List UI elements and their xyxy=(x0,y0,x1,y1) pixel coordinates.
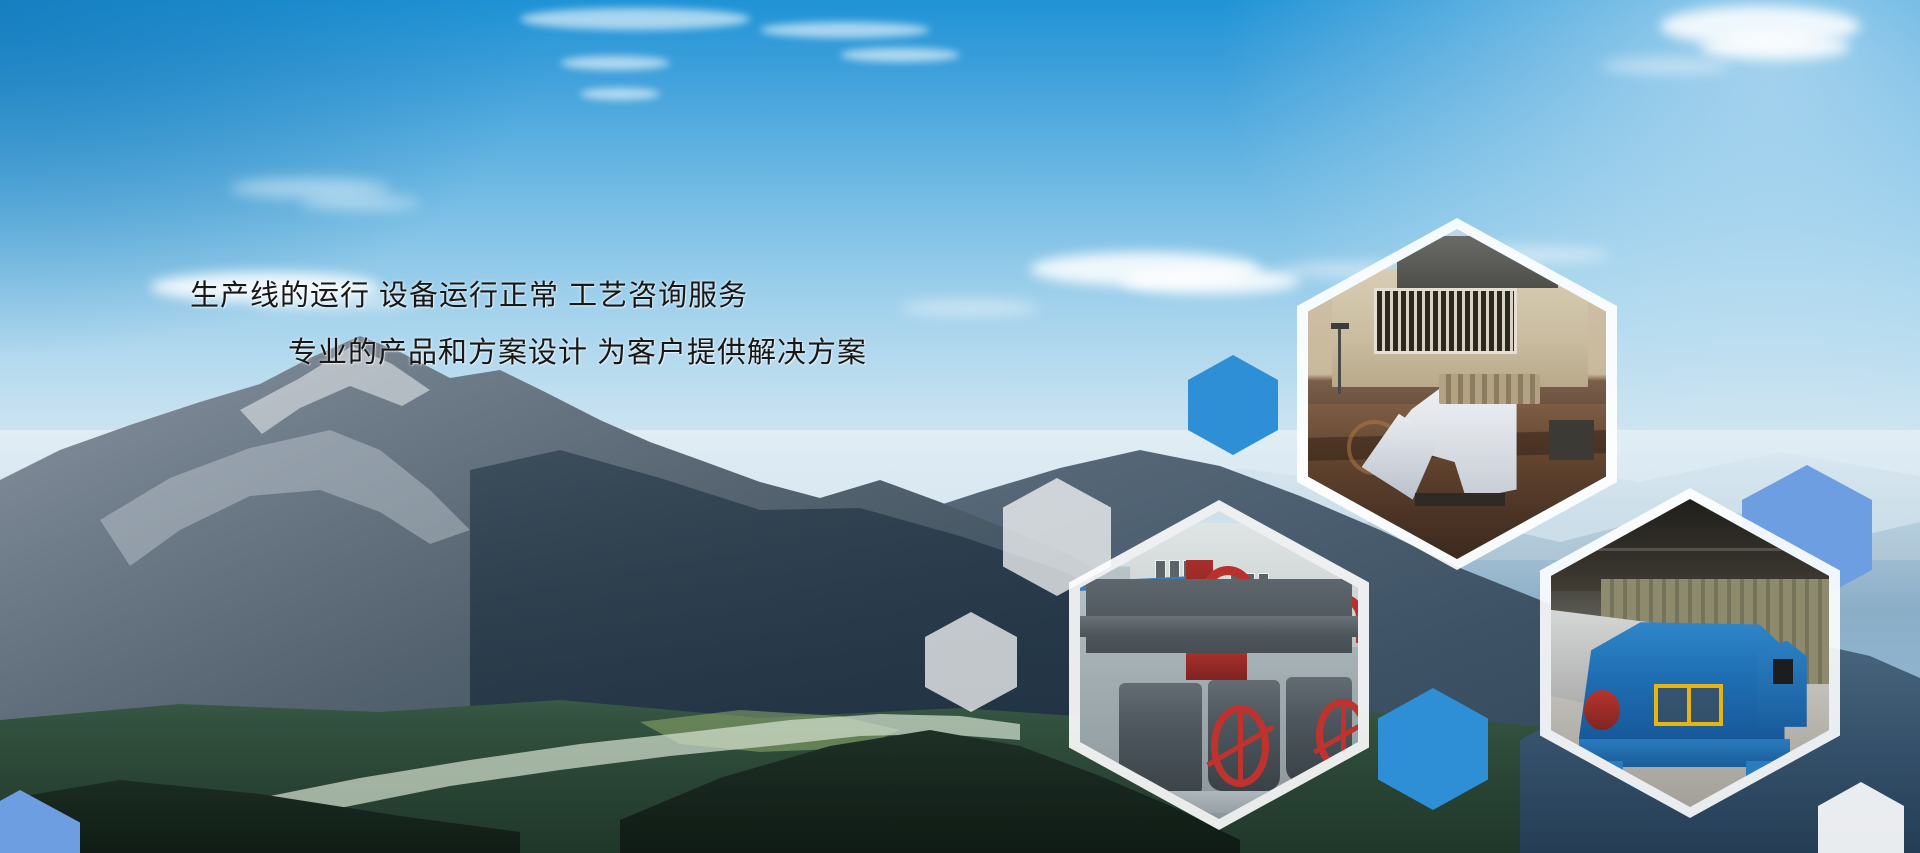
photo2-crossbeam xyxy=(1080,616,1358,638)
photo2-red-panel xyxy=(1186,653,1247,681)
photo2-handwheel xyxy=(1211,705,1269,787)
photo3-roof-truss xyxy=(1568,548,1813,551)
hero-headline: 生产线的运行 设备运行正常 工艺咨询服务 专业的产品和方案设计 为客户提供解决方… xyxy=(190,268,930,381)
cloud-puff xyxy=(1700,34,1850,60)
cloud-wisp xyxy=(760,22,930,38)
cloud-puff xyxy=(1120,268,1300,294)
cloud-wisp xyxy=(560,56,670,70)
headline-line-2: 专业的产品和方案设计 为客户提供解决方案 xyxy=(190,325,930,382)
cloud-wisp xyxy=(840,48,960,62)
photo3-drive-housing xyxy=(1757,641,1807,727)
hex-photo-casting-machine-image xyxy=(1308,229,1606,559)
photo1-machine-base xyxy=(1415,493,1504,506)
photo3-yellow-guard xyxy=(1654,684,1723,726)
cloud-wisp xyxy=(520,8,750,30)
photo1-crate xyxy=(1549,420,1594,460)
photo1-barred-window xyxy=(1374,288,1517,353)
photo1-light-pole xyxy=(1338,328,1341,394)
hex-photo-ladle-line-image xyxy=(1080,511,1358,819)
cloud-wisp xyxy=(300,196,420,210)
photo1-bolted-flange xyxy=(1439,374,1540,404)
cloud-wisp xyxy=(580,88,660,100)
hero-banner: 生产线的运行 设备运行正常 工艺咨询服务 专业的产品和方案设计 为客户提供解决方… xyxy=(0,0,1920,853)
headline-line-1: 生产线的运行 设备运行正常 工艺咨询服务 xyxy=(190,280,748,312)
cloud-wisp xyxy=(1600,58,1730,74)
cloud-wisp xyxy=(230,178,390,198)
hex-photo-blue-shredder-image xyxy=(1551,499,1829,807)
photo3-access-panel xyxy=(1773,659,1792,684)
